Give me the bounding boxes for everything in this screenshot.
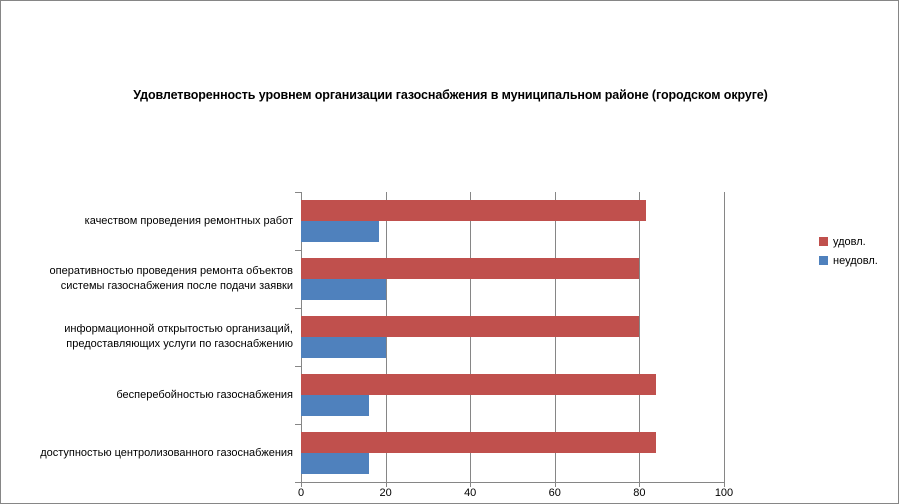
y-axis-category-label: оперативностью проведения ремонта объект… bbox=[9, 264, 299, 294]
y-axis-label-line: качеством проведения ремонтных работ bbox=[9, 214, 293, 229]
y-axis-category-label: доступностью центролизованного газоснабж… bbox=[9, 446, 299, 461]
bar-satisfied[interactable] bbox=[301, 200, 646, 221]
x-axis-tick-label: 40 bbox=[450, 487, 490, 499]
bar-satisfied[interactable] bbox=[301, 316, 639, 337]
y-axis-category-label: качеством проведения ремонтных работ bbox=[9, 214, 299, 229]
legend-swatch-icon bbox=[819, 237, 828, 246]
x-axis-tick-label: 80 bbox=[619, 487, 659, 499]
bar-group bbox=[301, 374, 724, 416]
bar-unsatisfied[interactable] bbox=[301, 453, 369, 474]
bar-group bbox=[301, 200, 724, 242]
y-axis-tick bbox=[295, 424, 301, 425]
y-axis-tick bbox=[295, 308, 301, 309]
legend-label: неудовл. bbox=[833, 255, 878, 267]
y-axis-label-line: доступностью центролизованного газоснабж… bbox=[9, 446, 293, 461]
x-axis-tick-label: 60 bbox=[535, 487, 575, 499]
y-axis-tick bbox=[295, 250, 301, 251]
x-axis-tick-label: 100 bbox=[704, 487, 744, 499]
legend-item[interactable]: неудовл. bbox=[819, 251, 878, 270]
bar-unsatisfied[interactable] bbox=[301, 395, 369, 416]
y-axis-label-line: предоставляющих услуги по газоснабжению bbox=[9, 337, 293, 352]
x-axis-line bbox=[301, 482, 725, 483]
y-axis-tick bbox=[295, 366, 301, 367]
bar-satisfied[interactable] bbox=[301, 432, 656, 453]
bar-unsatisfied[interactable] bbox=[301, 279, 386, 300]
legend-swatch-icon bbox=[819, 256, 828, 265]
bar-unsatisfied[interactable] bbox=[301, 221, 379, 242]
y-axis-label-line: системы газоснабжения после подачи заявк… bbox=[9, 279, 293, 294]
x-axis-tick-label: 20 bbox=[366, 487, 406, 499]
bar-group bbox=[301, 316, 724, 358]
bar-satisfied[interactable] bbox=[301, 374, 656, 395]
y-axis-label-line: бесперебойностью газоснабжения bbox=[9, 388, 293, 403]
legend-label: удовл. bbox=[833, 236, 866, 248]
y-axis-label-line: информационной открытостью организаций, bbox=[9, 322, 293, 337]
chart-legend: удовл.неудовл. bbox=[819, 232, 878, 270]
gridline bbox=[724, 192, 725, 482]
y-axis-tick bbox=[295, 482, 301, 483]
y-axis-tick bbox=[295, 192, 301, 193]
bar-unsatisfied[interactable] bbox=[301, 337, 386, 358]
chart-container: Удовлетворенность уровнем организации га… bbox=[0, 0, 899, 504]
bar-satisfied[interactable] bbox=[301, 258, 639, 279]
legend-item[interactable]: удовл. bbox=[819, 232, 878, 251]
y-axis-label-line: оперативностью проведения ремонта объект… bbox=[9, 264, 293, 279]
chart-title: Удовлетворенность уровнем организации га… bbox=[1, 88, 899, 102]
bar-group bbox=[301, 258, 724, 300]
plot-area bbox=[301, 192, 724, 482]
x-axis-tick-label: 0 bbox=[281, 487, 321, 499]
y-axis-category-label: бесперебойностью газоснабжения bbox=[9, 388, 299, 403]
bar-group bbox=[301, 432, 724, 474]
y-axis-category-label: информационной открытостью организаций,п… bbox=[9, 322, 299, 352]
